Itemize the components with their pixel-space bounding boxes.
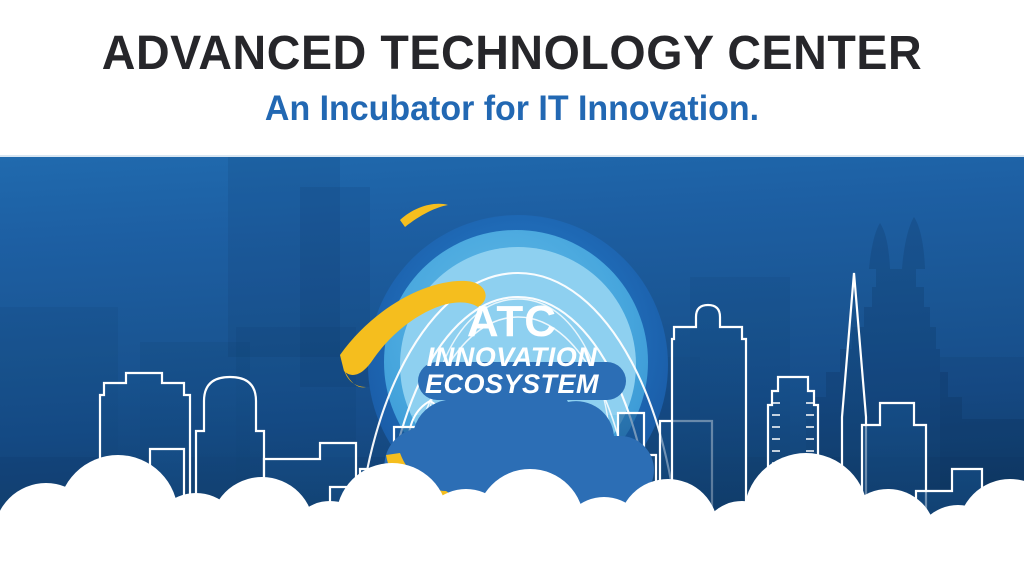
page-subtitle: An Incubator for IT Innovation. bbox=[15, 89, 1008, 129]
cloud-bank bbox=[0, 157, 1024, 577]
page-title: ADVANCED TECHNOLOGY CENTER bbox=[15, 26, 1008, 81]
hero-illustration: ATC INNOVATION ECOSYSTEM bbox=[0, 157, 1024, 577]
slide-canvas: ADVANCED TECHNOLOGY CENTER An Incubator … bbox=[0, 0, 1024, 577]
header-banner: ADVANCED TECHNOLOGY CENTER An Incubator … bbox=[0, 0, 1024, 157]
